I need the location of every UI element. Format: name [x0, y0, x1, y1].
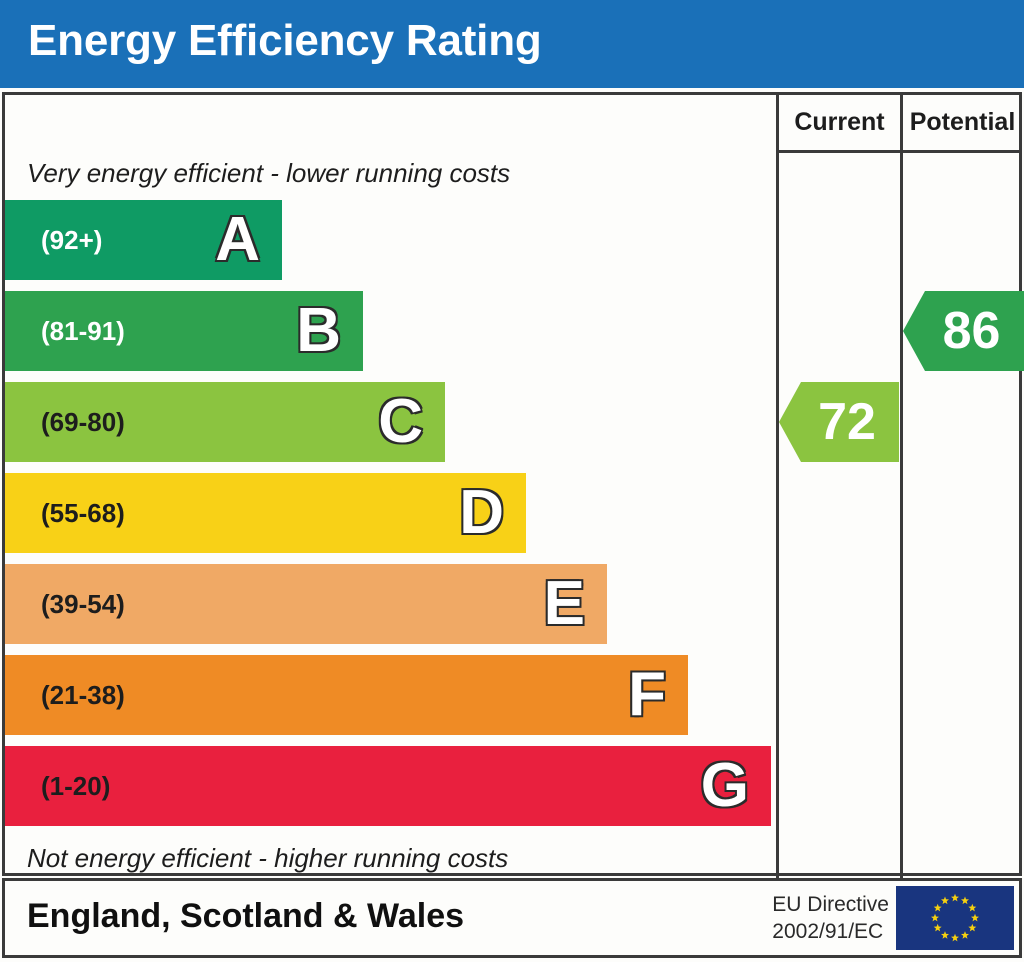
column-divider-current: [776, 95, 779, 879]
column-header-potential: Potential: [903, 108, 1022, 137]
header-divider-rule: [776, 150, 1022, 153]
rating-arrow-current: 72: [779, 382, 899, 462]
band-letter-b: B: [296, 300, 341, 362]
footer-region-label: England, Scotland & Wales: [27, 897, 464, 936]
band-range-a: (92+): [41, 225, 102, 256]
band-letter-e: E: [544, 573, 585, 635]
rating-chart-frame: Current Potential Very energy efficient …: [2, 92, 1022, 876]
energy-efficiency-certificate: Energy Efficiency Rating Current Potenti…: [0, 0, 1024, 962]
band-bar-b: (81-91)B: [5, 291, 363, 371]
page-title: Energy Efficiency Rating: [28, 16, 542, 66]
band-range-g: (1-20): [41, 771, 110, 802]
rating-arrow-potential: 86: [903, 291, 1024, 371]
rating-value-potential: 86: [927, 305, 1001, 357]
band-letter-f: F: [628, 664, 666, 726]
band-bar-c: (69-80)C: [5, 382, 445, 462]
band-range-b: (81-91): [41, 316, 125, 347]
column-divider-potential: [900, 95, 903, 879]
eu-directive-line2: 2002/91/EC: [772, 919, 889, 946]
band-letter-a: A: [215, 209, 260, 271]
title-bar: Energy Efficiency Rating: [0, 0, 1024, 88]
band-bar-e: (39-54)E: [5, 564, 607, 644]
rating-bands: (92+)A(81-91)B(69-80)C(55-68)D(39-54)E(2…: [5, 95, 776, 879]
footer-bar: England, Scotland & Wales EU Directive 2…: [2, 878, 1022, 958]
band-range-c: (69-80): [41, 407, 125, 438]
band-bar-g: (1-20)G: [5, 746, 771, 826]
eu-directive-line1: EU Directive: [772, 892, 889, 919]
rating-value-current: 72: [802, 396, 876, 448]
band-letter-d: D: [459, 482, 504, 544]
band-bar-f: (21-38)F: [5, 655, 688, 735]
band-bar-a: (92+)A: [5, 200, 282, 280]
band-range-f: (21-38): [41, 680, 125, 711]
band-range-e: (39-54): [41, 589, 125, 620]
band-letter-c: C: [378, 391, 423, 453]
eu-directive-text: EU Directive 2002/91/EC: [772, 892, 889, 946]
column-header-current: Current: [779, 108, 900, 137]
band-letter-g: G: [701, 755, 749, 817]
band-range-d: (55-68): [41, 498, 125, 529]
eu-flag-icon: [896, 886, 1014, 950]
band-bar-d: (55-68)D: [5, 473, 526, 553]
